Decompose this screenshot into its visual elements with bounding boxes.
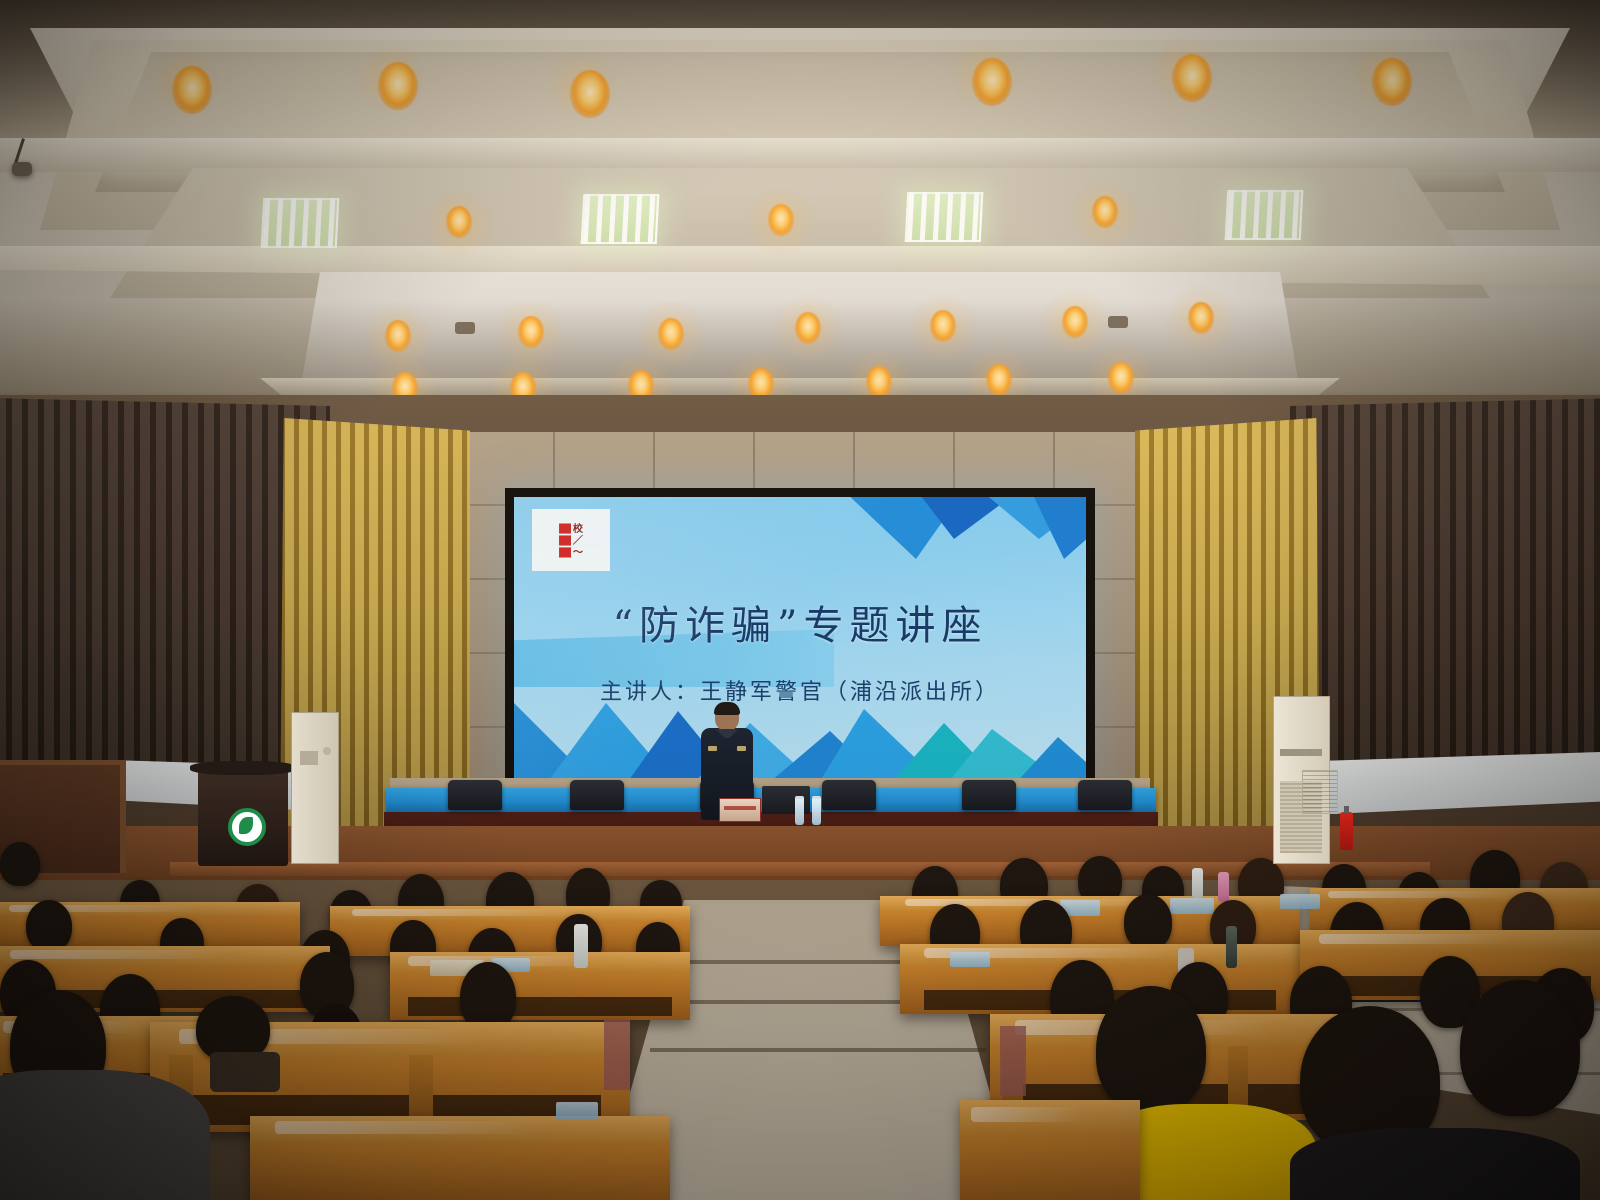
ceiling-spot-light xyxy=(1188,302,1214,334)
aisle-step xyxy=(650,1048,986,1052)
ceiling-spot-light xyxy=(658,318,684,350)
audience-head-foreground xyxy=(1096,986,1206,1114)
ceiling-spot-light xyxy=(1372,58,1412,106)
slide-title: “防诈骗”专题讲座 xyxy=(514,593,1086,651)
slide-logo-ink: 校 xyxy=(573,523,583,533)
ceiling-band-1 xyxy=(0,138,1600,172)
ceiling-speaker xyxy=(455,322,475,334)
water-bottle xyxy=(1192,868,1203,898)
fluorescent-panel-light xyxy=(905,192,984,242)
ceiling-spot-light xyxy=(930,310,956,342)
ceiling-spot-light xyxy=(1092,196,1118,228)
audience-head xyxy=(1124,894,1172,950)
fluorescent-panel-light xyxy=(1225,190,1304,240)
audience-head-foreground xyxy=(1460,980,1580,1116)
ceiling-speaker xyxy=(1108,316,1128,328)
ceiling-spot-light xyxy=(795,312,821,344)
projection-screen: 校 ／ ～ “防诈骗”专题讲座 主讲人：王静军警官（浦沿派出所） xyxy=(514,497,1086,785)
fire-extinguisher xyxy=(1340,812,1353,850)
slide-polygon xyxy=(1034,497,1086,559)
slide-subtitle: 主讲人：王静军警官（浦沿派出所） xyxy=(514,674,1086,706)
lecture-hall-photo: 校 ／ ～ “防诈骗”专题讲座 主讲人：王静军警官（浦沿派出所） xyxy=(0,0,1600,1200)
water-bottle xyxy=(574,924,588,968)
ceiling-spot-light xyxy=(172,66,212,114)
water-bottle xyxy=(795,796,804,825)
stage-chair xyxy=(1078,780,1132,810)
backpack xyxy=(210,1052,280,1092)
bench-side-panel xyxy=(1000,1026,1026,1096)
track-light-fixture xyxy=(8,138,54,184)
stage-chair xyxy=(570,780,624,810)
name-placard xyxy=(719,798,761,822)
water-bottle xyxy=(1218,872,1229,902)
ceiling-spot-light xyxy=(866,366,892,398)
ceiling-spot-light xyxy=(518,316,544,348)
dark-curtain-right xyxy=(1290,398,1600,798)
water-bottle xyxy=(1226,926,1237,968)
projection-screen-frame: 校 ／ ～ “防诈骗”专题讲座 主讲人：王静军警官（浦沿派出所） xyxy=(505,488,1095,793)
audience-head xyxy=(26,900,72,952)
device-screen-glow xyxy=(1280,894,1320,909)
device-screen-glow xyxy=(950,952,990,967)
dark-curtain-left xyxy=(0,398,330,798)
stage-chair xyxy=(822,780,876,810)
air-conditioner-left xyxy=(291,712,339,864)
ceiling-spot-light xyxy=(1172,54,1212,102)
ceiling-spot-light xyxy=(986,364,1012,396)
ceiling-spot-light xyxy=(1062,306,1088,338)
ceiling-spot-light xyxy=(972,58,1012,106)
water-bottle xyxy=(812,796,821,825)
audience-head xyxy=(0,842,40,886)
ceiling-spot-light xyxy=(768,204,794,236)
fire-safety-notice xyxy=(1302,770,1338,814)
slide-logo: 校 ／ ～ xyxy=(532,509,610,571)
fluorescent-panel-light xyxy=(261,198,340,248)
stage-chair xyxy=(448,780,502,810)
wooden-podium xyxy=(198,770,288,866)
audience-shoulders-foreground xyxy=(1290,1128,1580,1200)
bench-side-panel xyxy=(604,1020,630,1090)
ceiling-spot-light xyxy=(385,320,411,352)
ceiling-spot-light xyxy=(570,70,610,118)
device-screen-glow xyxy=(1170,898,1214,914)
ceiling-spot-light xyxy=(1108,362,1134,394)
fluorescent-panel-light xyxy=(581,194,660,244)
stage-chair xyxy=(962,780,1016,810)
ceiling-spot-light xyxy=(378,62,418,110)
device-screen-glow xyxy=(556,1102,598,1120)
audience-shoulders-foreground xyxy=(0,1070,210,1200)
podium-emblem-icon xyxy=(228,808,266,846)
ceiling-spot-light xyxy=(446,206,472,238)
lecture-bench-foreground xyxy=(960,1100,1140,1200)
lecture-bench-foreground xyxy=(250,1116,670,1200)
